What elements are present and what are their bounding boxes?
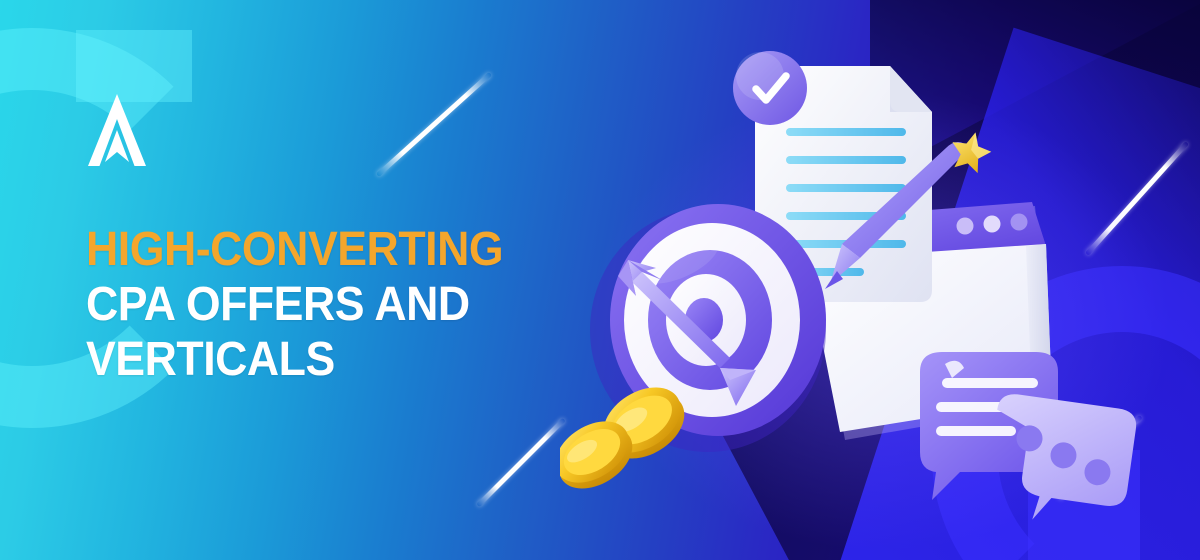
headline-line-3: VERTICALS: [86, 332, 607, 387]
brand-logo[interactable]: [86, 92, 148, 170]
hero-illustration: [560, 0, 1200, 560]
headline-line-2: CPA OFFERS AND: [86, 277, 607, 332]
promo-banner: HIGH-CONVERTING CPA OFFERS AND VERTICALS: [0, 0, 1200, 560]
headline-line-1: HIGH-CONVERTING: [86, 222, 607, 277]
check-badge-icon: [733, 51, 807, 125]
decorative-sparkle-line: [476, 418, 566, 508]
decorative-sparkle-line: [376, 72, 492, 177]
